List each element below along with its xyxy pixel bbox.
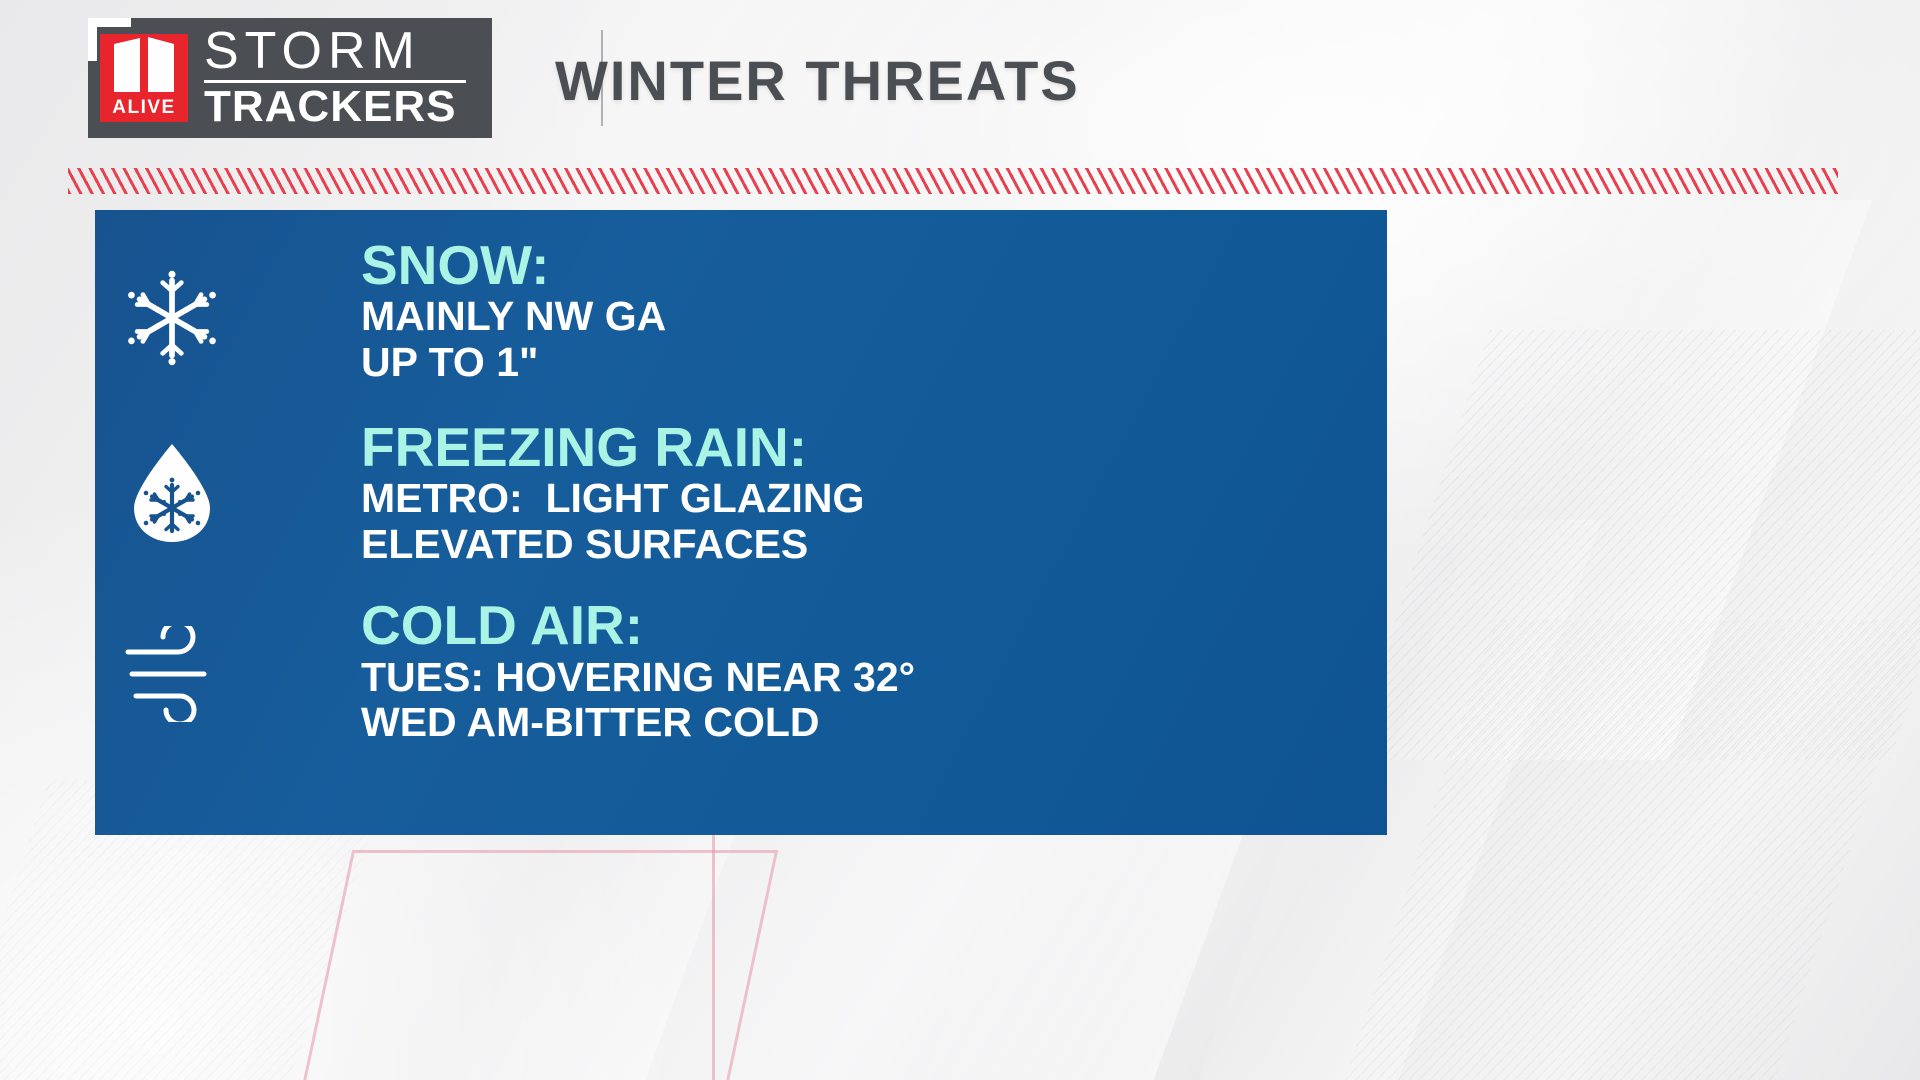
page-title: WINTER THREATS [555, 48, 1080, 113]
snowflake-glyph [120, 266, 224, 370]
logo-trackers-text: TRACKERS [204, 85, 492, 129]
station-logo: ALIVE STORM TRACKERS [88, 18, 492, 138]
threat-item-snow: SNOW: MAINLY NW GA UP TO 1" [95, 236, 1387, 386]
threat-text-freezing-rain: FREEZING RAIN: METRO: LIGHT GLAZING ELEV… [211, 418, 864, 568]
threat-text-cold-air: COLD AIR: TUES: HOVERING NEAR 32° WED AM… [211, 596, 915, 746]
graphic-stage: ALIVE STORM TRACKERS WINTER THREATS [0, 0, 1920, 1080]
threat-detail-line: WED AM-BITTER COLD [361, 700, 915, 746]
threat-item-cold-air: COLD AIR: TUES: HOVERING NEAR 32° WED AM… [95, 596, 1387, 746]
threat-detail-line: MAINLY NW GA [361, 294, 666, 340]
red-hatch-divider [68, 168, 1838, 194]
wind-icon [117, 626, 227, 722]
freezing-rain-droplet-icon [117, 436, 227, 546]
threat-text-snow: SNOW: MAINLY NW GA UP TO 1" [211, 236, 666, 386]
threat-detail-line: UP TO 1" [361, 340, 666, 386]
threat-detail-line: TUES: HOVERING NEAR 32° [361, 655, 915, 701]
threat-item-freezing-rain: FREEZING RAIN: METRO: LIGHT GLAZING ELEV… [95, 418, 1387, 568]
wind-glyph [118, 626, 226, 722]
threat-heading: SNOW: [361, 236, 666, 294]
threat-detail-line: ELEVATED SURFACES [361, 522, 864, 568]
droplet-snowflake-glyph [124, 436, 220, 546]
logo-wordmark: STORM TRACKERS [204, 27, 492, 129]
alive-label: ALIVE [100, 97, 188, 119]
snowflake-icon [117, 266, 227, 370]
background-rose-outline [288, 850, 778, 1080]
logo-corner-accent [88, 18, 131, 61]
threat-detail-line: METRO: LIGHT GLAZING [361, 476, 864, 522]
logo-storm-text: STORM [204, 27, 492, 77]
threats-panel: SNOW: MAINLY NW GA UP TO 1" [95, 210, 1387, 835]
threat-heading: COLD AIR: [361, 596, 915, 654]
background-rose-line [712, 832, 715, 1080]
threat-heading: FREEZING RAIN: [361, 418, 864, 476]
